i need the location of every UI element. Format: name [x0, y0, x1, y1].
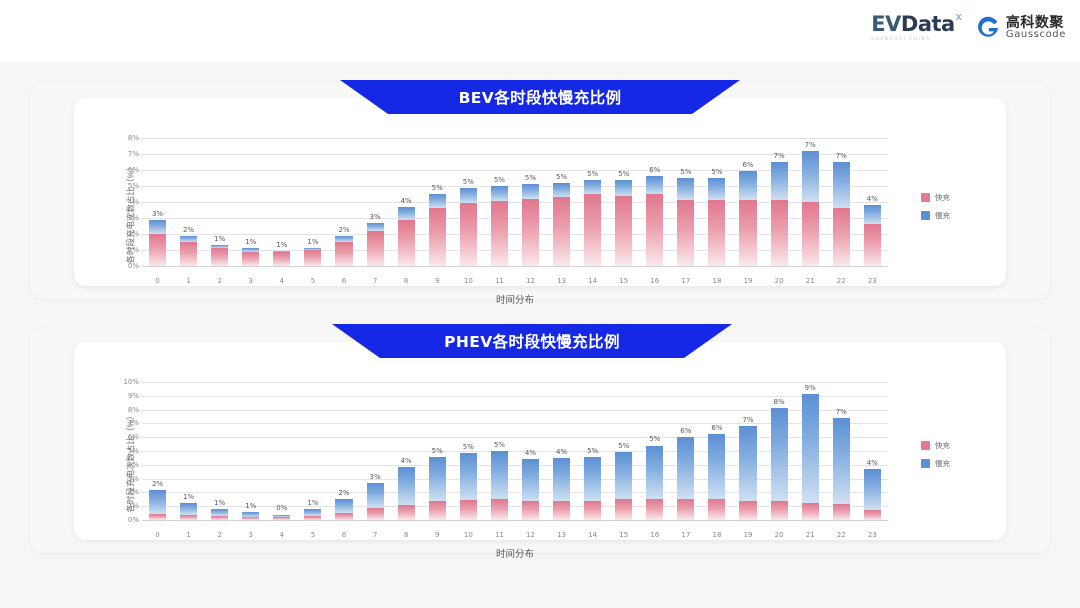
phev-bar-column[interactable]: 2%	[328, 382, 359, 520]
phev-bar-column[interactable]: 5%	[639, 382, 670, 520]
bev-bar-segment-fast	[398, 220, 415, 266]
bev-stacked-bar[interactable]	[522, 184, 539, 266]
bev-stacked-bar[interactable]	[864, 205, 881, 266]
bev-x-tick: 5	[297, 277, 328, 285]
phev-y-tick: 3%	[128, 475, 139, 483]
bev-bar-value-label: 1%	[245, 238, 256, 246]
bev-stacked-bar[interactable]	[335, 236, 352, 266]
phev-stacked-bar[interactable]	[180, 503, 197, 520]
phev-bar-value-label: 3%	[370, 473, 381, 481]
bev-x-tick: 3	[235, 277, 266, 285]
phev-bar-column[interactable]: 5%	[422, 382, 453, 520]
phev-bar-value-label: 1%	[214, 499, 225, 507]
bev-bar-value-label: 5%	[463, 178, 474, 186]
phev-stacked-bar[interactable]	[211, 509, 228, 520]
phev-x-tick: 0	[142, 531, 173, 539]
bev-bar-segment-slow	[553, 183, 570, 197]
bev-title-text: BEV各时段快慢充比例	[459, 86, 622, 108]
bev-y-tick: 8%	[128, 134, 139, 142]
bev-bar-segment-fast	[367, 231, 384, 266]
phev-bar-value-label: 5%	[618, 442, 629, 450]
bev-bar-group: 3%2%1%1%1%1%2%3%4%5%5%5%5%5%5%5%6%5%5%6%…	[142, 138, 888, 266]
bev-bar-column[interactable]: 1%	[204, 138, 235, 266]
bev-bar-segment-fast	[615, 196, 632, 266]
phev-bar-column[interactable]: 1%	[235, 382, 266, 520]
bev-y-tick: 4%	[128, 198, 139, 206]
bev-stacked-bar[interactable]	[677, 178, 694, 266]
bev-stacked-bar[interactable]	[615, 180, 632, 266]
bev-x-tick: 14	[577, 277, 608, 285]
phev-stacked-bar[interactable]	[429, 457, 446, 520]
bev-bar-segment-fast	[522, 199, 539, 266]
bev-bar-segment-fast	[491, 201, 508, 266]
phev-bar-segment-slow	[522, 459, 539, 500]
phev-bar-column[interactable]: 7%	[826, 382, 857, 520]
gausscode-text: 高科数聚 Gausscode	[1006, 15, 1066, 40]
phev-bar-value-label: 6%	[680, 427, 691, 435]
phev-stacked-bar[interactable]	[553, 458, 570, 520]
bev-bar-value-label: 7%	[774, 152, 785, 160]
bev-gridline	[142, 266, 888, 267]
phev-y-tick: 2%	[128, 488, 139, 496]
bev-bar-value-label: 7%	[836, 152, 847, 160]
bev-x-tick: 7	[360, 277, 391, 285]
phev-bar-segment-fast	[149, 514, 166, 520]
bev-y-tick: 2%	[128, 230, 139, 238]
phev-stacked-bar[interactable]	[149, 490, 166, 520]
bev-legend-item[interactable]: 慢充	[921, 210, 950, 221]
phev-y-tick: 5%	[128, 447, 139, 455]
phev-bar-segment-fast	[584, 501, 601, 520]
phev-stacked-bar[interactable]	[771, 408, 788, 520]
phev-y-tick: 1%	[128, 502, 139, 510]
phev-bar-segment-slow	[149, 490, 166, 514]
bev-x-tick: 1	[173, 277, 204, 285]
phev-bar-value-label: 8%	[774, 398, 785, 406]
bev-bar-value-label: 7%	[805, 141, 816, 149]
bev-x-tick: 8	[391, 277, 422, 285]
phev-bar-segment-fast	[553, 501, 570, 520]
phev-bar-segment-slow	[739, 426, 756, 501]
phev-bar-value-label: 9%	[805, 384, 816, 392]
phev-bar-segment-fast	[864, 510, 881, 520]
phev-bar-segment-slow	[833, 418, 850, 504]
bev-bar-segment-fast	[211, 248, 228, 266]
bev-plot-area: 0%1%2%3%4%5%6%7%8% 3%2%1%1%1%1%2%3%4%5%5…	[120, 138, 888, 266]
phev-stacked-bar[interactable]	[615, 452, 632, 520]
phev-x-tick: 12	[515, 531, 546, 539]
evdata-wordmark: EV Data x	[871, 14, 962, 35]
phev-bar-segment-fast	[180, 515, 197, 520]
bev-bar-column[interactable]: 5%	[515, 138, 546, 266]
bev-x-axis-label: 时间分布	[142, 292, 888, 306]
bev-x-tick: 9	[422, 277, 453, 285]
bev-bar-column[interactable]: 3%	[360, 138, 391, 266]
phev-stacked-bar[interactable]	[273, 514, 290, 520]
bev-stacked-bar[interactable]	[491, 186, 508, 266]
phev-bar-segment-slow	[802, 394, 819, 502]
bev-bar-value-label: 5%	[494, 176, 505, 184]
phev-bar-value-label: 7%	[742, 416, 753, 424]
bev-bar-column[interactable]: 6%	[639, 138, 670, 266]
bev-bar-segment-fast	[553, 197, 570, 266]
phev-x-tick: 10	[453, 531, 484, 539]
phev-x-tick: 16	[639, 531, 670, 539]
phev-plot-area: 0%1%2%3%4%5%6%7%8%9%10% 2%1%1%1%0%1%2%3%…	[120, 382, 888, 520]
bev-bar-segment-fast	[273, 252, 290, 266]
bev-stacked-bar[interactable]	[739, 171, 756, 266]
phev-bar-column[interactable]: 5%	[577, 382, 608, 520]
bev-bar-segment-slow	[833, 162, 850, 208]
bev-bar-column[interactable]: 1%	[297, 138, 328, 266]
bev-bar-column[interactable]: 4%	[391, 138, 422, 266]
bev-bar-value-label: 3%	[370, 213, 381, 221]
bev-legend-label: 慢充	[935, 210, 950, 221]
phev-bar-value-label: 5%	[649, 435, 660, 443]
bev-bar-segment-slow	[615, 180, 632, 196]
phev-bar-column[interactable]: 5%	[608, 382, 639, 520]
phev-y-tick: 9%	[128, 392, 139, 400]
bev-stacked-bar[interactable]	[553, 183, 570, 266]
bev-bar-segment-fast	[335, 242, 352, 266]
phev-bar-column[interactable]: 7%	[732, 382, 763, 520]
phev-x-tick: 2	[204, 531, 235, 539]
bev-bar-column[interactable]: 5%	[422, 138, 453, 266]
bev-x-tick: 16	[639, 277, 670, 285]
bev-bar-column[interactable]: 6%	[732, 138, 763, 266]
bev-stacked-bar[interactable]	[149, 220, 166, 266]
phev-bar-column[interactable]: 1%	[173, 382, 204, 520]
phev-x-tick: 20	[764, 531, 795, 539]
phev-bar-column[interactable]: 5%	[453, 382, 484, 520]
phev-title-banner: PHEV各时段快慢充比例	[332, 324, 732, 358]
phev-bar-segment-slow	[646, 446, 663, 500]
phev-bar-segment-fast	[646, 499, 663, 520]
phev-stacked-bar[interactable]	[864, 469, 881, 520]
phev-bar-column[interactable]: 3%	[360, 382, 391, 520]
bev-bar-value-label: 4%	[867, 195, 878, 203]
phev-bar-column[interactable]: 9%	[795, 382, 826, 520]
bev-x-tick: 20	[764, 277, 795, 285]
phev-x-tick: 3	[235, 531, 266, 539]
phev-gridline	[142, 520, 888, 521]
phev-bar-segment-fast	[304, 516, 321, 520]
bev-stacked-bar[interactable]	[833, 162, 850, 266]
phev-y-tick: 8%	[128, 406, 139, 414]
phev-bar-segment-slow	[335, 499, 352, 513]
bev-stacked-bar[interactable]	[273, 251, 290, 266]
bev-bar-segment-fast	[584, 194, 601, 266]
phev-bar-segment-fast	[367, 508, 384, 520]
phev-stacked-bar[interactable]	[833, 418, 850, 520]
bev-bar-value-label: 5%	[680, 168, 691, 176]
phev-bar-segment-fast	[522, 501, 539, 520]
evdata-ev-text: EV	[871, 14, 901, 35]
bev-bar-value-label: 5%	[711, 168, 722, 176]
phev-stacked-bar[interactable]	[367, 483, 384, 520]
phev-title-text: PHEV各时段快慢充比例	[444, 330, 620, 352]
phev-bar-segment-slow	[429, 457, 446, 502]
bev-bar-value-label: 3%	[152, 210, 163, 218]
bev-x-tick: 17	[670, 277, 701, 285]
phev-x-tick: 9	[422, 531, 453, 539]
phev-bar-value-label: 5%	[587, 447, 598, 455]
phev-legend-item[interactable]: 快充	[921, 440, 950, 451]
phev-x-tick: 4	[266, 531, 297, 539]
bev-bar-column[interactable]: 5%	[608, 138, 639, 266]
bev-bar-column[interactable]: 7%	[826, 138, 857, 266]
phev-bar-column[interactable]: 1%	[204, 382, 235, 520]
bev-stacked-bar[interactable]	[802, 151, 819, 266]
bev-stacked-bar[interactable]	[367, 223, 384, 266]
phev-bar-segment-slow	[864, 469, 881, 510]
phev-bar-segment-slow	[584, 457, 601, 502]
phev-x-tick: 7	[360, 531, 391, 539]
bev-bar-value-label: 2%	[338, 226, 349, 234]
phev-bar-segment-slow	[553, 458, 570, 501]
phev-bar-value-label: 4%	[525, 449, 536, 457]
bev-bar-column[interactable]: 1%	[235, 138, 266, 266]
phev-stacked-bar[interactable]	[491, 451, 508, 520]
bev-bar-segment-slow	[149, 220, 166, 234]
bev-bar-segment-fast	[304, 250, 321, 266]
bev-y-tick: 0%	[128, 262, 139, 270]
bev-bar-column[interactable]: 5%	[577, 138, 608, 266]
bev-stacked-bar[interactable]	[398, 207, 415, 266]
bev-legend-swatch	[921, 193, 930, 202]
bev-bar-segment-fast	[677, 200, 694, 266]
phev-x-tick: 17	[670, 531, 701, 539]
phev-legend-item[interactable]: 慢充	[921, 458, 950, 469]
phev-bar-value-label: 1%	[183, 493, 194, 501]
phev-stacked-bar[interactable]	[646, 445, 663, 520]
phev-stacked-bar[interactable]	[522, 459, 539, 520]
bev-bar-value-label: 5%	[556, 173, 567, 181]
bev-bar-segment-fast	[460, 203, 477, 266]
phev-stacked-bar[interactable]	[708, 434, 725, 520]
phev-bar-segment-fast	[273, 517, 290, 520]
phev-bar-column[interactable]: 4%	[391, 382, 422, 520]
phev-bar-column[interactable]: 8%	[764, 382, 795, 520]
phev-y-tick: 0%	[128, 516, 139, 524]
phev-bar-segment-slow	[491, 451, 508, 499]
phev-chart: 各时段充电次数占比（%） 0%1%2%3%4%5%6%7%8%9%10% 2%1…	[96, 382, 956, 542]
phev-bar-segment-slow	[398, 467, 415, 505]
phev-bar-segment-slow	[180, 503, 197, 515]
bev-bar-segment-slow	[398, 207, 415, 221]
phev-bar-value-label: 5%	[494, 441, 505, 449]
bev-bar-column[interactable]: 5%	[546, 138, 577, 266]
bev-legend-item[interactable]: 快充	[921, 192, 950, 203]
bev-y-tick: 3%	[128, 214, 139, 222]
bev-bar-segment-slow	[460, 188, 477, 203]
bev-bar-segment-fast	[242, 252, 259, 266]
phev-x-tick: 5	[297, 531, 328, 539]
phev-bar-value-label: 4%	[556, 448, 567, 456]
bev-stacked-bar[interactable]	[584, 180, 601, 266]
phev-x-tick: 11	[484, 531, 515, 539]
bev-stacked-bar[interactable]	[646, 176, 663, 266]
phev-bar-value-label: 7%	[836, 408, 847, 416]
bev-bar-segment-slow	[708, 178, 725, 200]
bev-y-tick: 5%	[128, 182, 139, 190]
bev-x-tick: 19	[732, 277, 763, 285]
phev-bar-segment-slow	[677, 437, 694, 500]
phev-stacked-bar[interactable]	[242, 512, 259, 520]
bev-bar-value-label: 1%	[307, 238, 318, 246]
phev-legend-label: 慢充	[935, 458, 950, 469]
phev-y-tick: 7%	[128, 419, 139, 427]
phev-stacked-bar[interactable]	[802, 394, 819, 520]
bev-bar-segment-fast	[646, 194, 663, 266]
phev-stacked-bar[interactable]	[739, 426, 756, 520]
bev-y-tick: 6%	[128, 166, 139, 174]
phev-bar-column[interactable]: 2%	[142, 382, 173, 520]
phev-bar-column[interactable]: 6%	[701, 382, 732, 520]
bev-stacked-bar[interactable]	[771, 162, 788, 266]
bev-stacked-bar[interactable]	[429, 194, 446, 266]
phev-stacked-bar[interactable]	[460, 453, 477, 520]
phev-x-tick: 6	[328, 531, 359, 539]
page-header: EV Data x SHANGHAI CHINA 高科数聚 Gausscode	[0, 0, 1080, 62]
phev-bar-value-label: 1%	[245, 502, 256, 510]
phev-y-tick: 4%	[128, 461, 139, 469]
phev-bar-segment-fast	[771, 501, 788, 520]
bev-bar-column[interactable]: 5%	[484, 138, 515, 266]
phev-bar-segment-fast	[460, 500, 477, 520]
bev-x-tick: 2	[204, 277, 235, 285]
bev-bar-column[interactable]: 1%	[266, 138, 297, 266]
phev-bar-segment-slow	[771, 408, 788, 501]
bev-bar-segment-fast	[833, 208, 850, 266]
phev-legend-label: 快充	[935, 440, 950, 451]
gausscode-logo: 高科数聚 Gausscode	[976, 15, 1066, 40]
evdata-data-text: Data	[901, 14, 955, 35]
phev-bar-segment-fast	[491, 499, 508, 520]
phev-x-tick: 1	[173, 531, 204, 539]
bev-bar-column[interactable]: 4%	[857, 138, 888, 266]
phev-bar-column[interactable]: 1%	[297, 382, 328, 520]
bev-x-tick: 18	[701, 277, 732, 285]
bev-bar-value-label: 4%	[401, 197, 412, 205]
phev-bar-segment-fast	[242, 517, 259, 520]
phev-bar-segment-slow	[708, 434, 725, 499]
phev-bar-column[interactable]: 4%	[546, 382, 577, 520]
evdata-x-icon: x	[956, 12, 962, 23]
phev-bar-segment-fast	[677, 499, 694, 520]
bev-bar-value-label: 1%	[214, 235, 225, 243]
bev-bar-value-label: 5%	[587, 170, 598, 178]
bev-bar-segment-slow	[677, 178, 694, 200]
phev-bar-column[interactable]: 0%	[266, 382, 297, 520]
bev-x-tick: 22	[826, 277, 857, 285]
phev-stacked-bar[interactable]	[304, 509, 321, 520]
phev-x-tick: 14	[577, 531, 608, 539]
phev-stacked-bar[interactable]	[335, 499, 352, 520]
bev-bar-column[interactable]: 7%	[795, 138, 826, 266]
phev-legend: 快充慢充	[921, 440, 950, 476]
bev-y-tick: 7%	[128, 150, 139, 158]
phev-bar-column[interactable]: 6%	[670, 382, 701, 520]
bev-x-tick: 13	[546, 277, 577, 285]
bev-bar-value-label: 6%	[742, 161, 753, 169]
bev-bar-column[interactable]: 2%	[328, 138, 359, 266]
phev-bar-segment-slow	[304, 509, 321, 516]
bev-bar-column[interactable]: 5%	[670, 138, 701, 266]
phev-bar-value-label: 6%	[711, 424, 722, 432]
phev-y-tick: 10%	[123, 378, 139, 386]
phev-stacked-bar[interactable]	[398, 467, 415, 520]
phev-x-tick: 13	[546, 531, 577, 539]
bev-bar-segment-fast	[708, 200, 725, 266]
bev-x-tick: 11	[484, 277, 515, 285]
bev-stacked-bar[interactable]	[180, 236, 197, 266]
evdata-subtitle: SHANGHAI CHINA	[871, 37, 930, 41]
bev-bar-column[interactable]: 5%	[453, 138, 484, 266]
bev-stacked-bar[interactable]	[460, 188, 477, 266]
bev-stacked-bar[interactable]	[304, 248, 321, 266]
phev-bar-column[interactable]: 5%	[484, 382, 515, 520]
phev-x-tick: 8	[391, 531, 422, 539]
phev-bar-segment-fast	[802, 503, 819, 520]
phev-x-tick: 22	[826, 531, 857, 539]
bev-legend-label: 快充	[935, 192, 950, 203]
bev-x-tick: 0	[142, 277, 173, 285]
phev-x-tick: 21	[795, 531, 826, 539]
phev-y-ticks: 0%1%2%3%4%5%6%7%8%9%10%	[120, 382, 142, 520]
phev-x-tick: 15	[608, 531, 639, 539]
bev-x-tick: 15	[608, 277, 639, 285]
bev-stacked-bar[interactable]	[242, 248, 259, 266]
bev-x-tick: 10	[453, 277, 484, 285]
phev-bar-segment-slow	[211, 509, 228, 516]
phev-bar-column[interactable]: 4%	[857, 382, 888, 520]
phev-bar-value-label: 5%	[432, 447, 443, 455]
phev-stacked-bar[interactable]	[584, 457, 601, 520]
bev-bar-column[interactable]: 2%	[173, 138, 204, 266]
bev-legend: 快充慢充	[921, 192, 950, 228]
bev-bar-segment-slow	[584, 180, 601, 194]
bev-stacked-bar[interactable]	[211, 245, 228, 266]
phev-bar-column[interactable]: 4%	[515, 382, 546, 520]
phev-bar-segment-fast	[615, 499, 632, 520]
bev-bar-segment-fast	[429, 208, 446, 266]
bev-bar-segment-fast	[864, 224, 881, 266]
bev-bar-column[interactable]: 5%	[701, 138, 732, 266]
bev-x-tick: 6	[328, 277, 359, 285]
bev-x-tick: 21	[795, 277, 826, 285]
bev-bar-segment-slow	[522, 184, 539, 199]
phev-bar-segment-fast	[739, 501, 756, 520]
bev-bar-value-label: 1%	[276, 241, 287, 249]
phev-bar-segment-slow	[367, 483, 384, 509]
bev-stacked-bar[interactable]	[708, 178, 725, 266]
phev-bar-segment-fast	[708, 499, 725, 520]
bev-chart: 各时段充电次数占比（%） 0%1%2%3%4%5%6%7%8% 3%2%1%1%…	[96, 138, 956, 288]
phev-bar-value-label: 1%	[307, 499, 318, 507]
phev-stacked-bar[interactable]	[677, 437, 694, 520]
phev-bar-group: 2%1%1%1%0%1%2%3%4%5%5%5%4%4%5%5%5%6%6%7%…	[142, 382, 888, 520]
bev-bar-segment-fast	[149, 234, 166, 266]
bev-bar-column[interactable]: 3%	[142, 138, 173, 266]
bev-bar-value-label: 5%	[432, 184, 443, 192]
bev-x-tick: 12	[515, 277, 546, 285]
gausscode-mark-icon	[976, 16, 1000, 40]
bev-bar-segment-fast	[771, 200, 788, 266]
bev-bar-column[interactable]: 7%	[764, 138, 795, 266]
bev-bar-value-label: 2%	[183, 226, 194, 234]
bev-bar-segment-slow	[367, 223, 384, 231]
